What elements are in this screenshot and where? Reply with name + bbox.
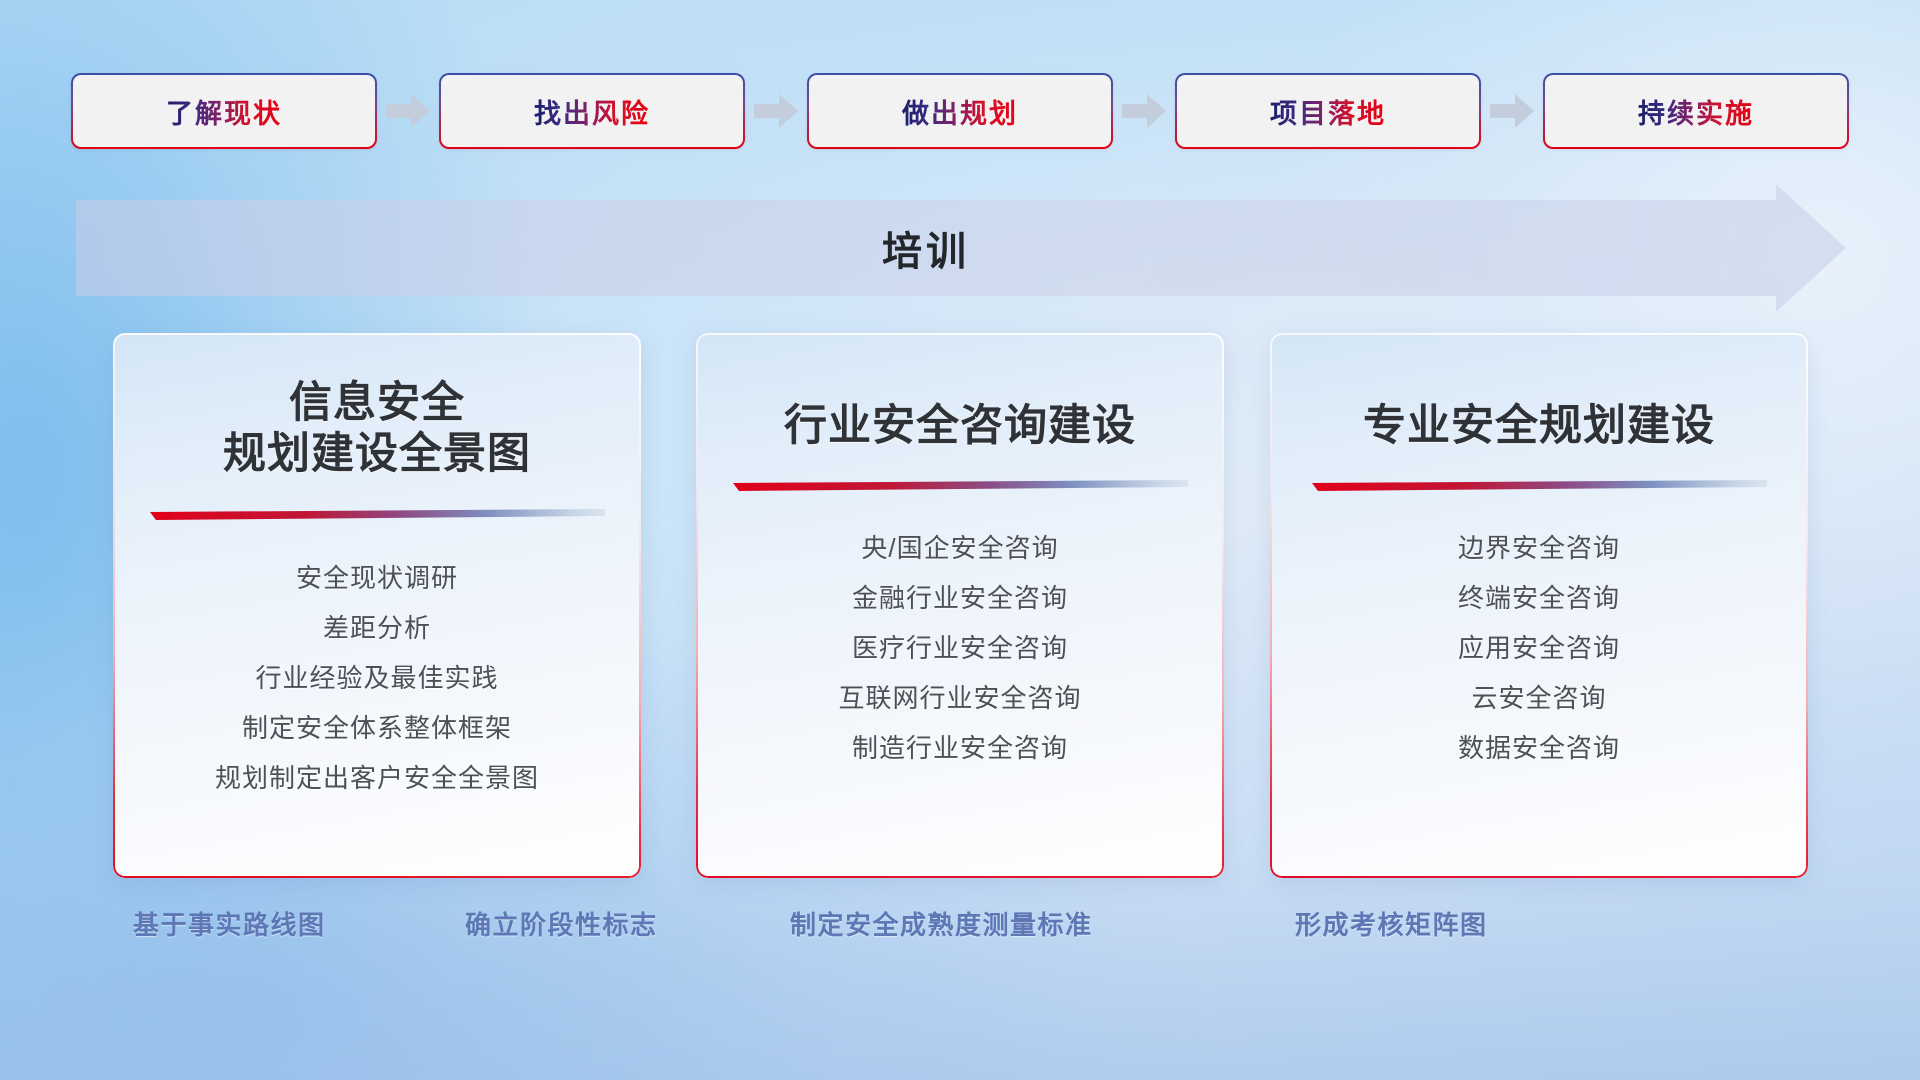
process-step-label-1: 了解现状 xyxy=(166,92,282,131)
footer-label-2: 确立阶段性标志 xyxy=(465,905,658,942)
arrow-right-icon xyxy=(1481,72,1543,150)
capability-card-1-item-list: 安全现状调研 差距分析 行业经验及最佳实践 制定安全体系整体框架 规划制定出客户… xyxy=(215,553,539,803)
process-step-2-wrap: 找出风险 xyxy=(439,72,807,150)
process-step-3-wrap: 做出规划 xyxy=(807,72,1175,150)
process-step-box-3[interactable]: 做出规划 xyxy=(807,73,1113,149)
list-item: 规划制定出客户安全全景图 xyxy=(215,753,539,803)
process-step-box-4[interactable]: 项目落地 xyxy=(1175,73,1481,149)
list-item: 互联网行业安全咨询 xyxy=(838,673,1081,723)
capability-card-1-title-line-1: 信息安全 xyxy=(223,378,531,429)
process-step-box-1[interactable]: 了解现状 xyxy=(71,73,377,149)
footer-label-4: 形成考核矩阵图 xyxy=(1295,905,1488,942)
arrow-right-icon xyxy=(377,72,439,150)
list-item: 数据安全咨询 xyxy=(1458,723,1620,773)
process-step-label-2: 找出风险 xyxy=(534,92,650,131)
footer-label-3: 制定安全成熟度测量标准 xyxy=(790,905,1093,942)
list-item: 差距分析 xyxy=(323,603,431,653)
capability-card-1[interactable]: 信息安全 规划建设全景图 xyxy=(113,333,641,878)
capability-card-2-title-line-1: 行业安全咨询建设 xyxy=(784,401,1136,452)
list-item: 制造行业安全咨询 xyxy=(852,723,1068,773)
list-item: 医疗行业安全咨询 xyxy=(852,623,1068,673)
capability-card-2[interactable]: 行业安全咨询建设 xyxy=(696,333,1224,878)
capability-card-3-title-line-1: 专业安全规划建设 xyxy=(1363,401,1715,452)
list-item: 制定安全体系整体框架 xyxy=(242,703,512,753)
arrow-right-icon xyxy=(745,72,807,150)
capability-card-1-inner: 信息安全 规划建设全景图 xyxy=(113,333,641,878)
process-step-box-2[interactable]: 找出风险 xyxy=(439,73,745,149)
footer-label-row: 基于事实路线图 确立阶段性标志 制定安全成熟度测量标准 形成考核矩阵图 xyxy=(0,905,1920,965)
capability-card-3-title: 专业安全规划建设 xyxy=(1363,333,1715,452)
process-step-box-5[interactable]: 持续实施 xyxy=(1543,73,1849,149)
capability-card-2-inner: 行业安全咨询建设 xyxy=(696,333,1224,878)
capability-card-1-title: 信息安全 规划建设全景图 xyxy=(223,333,531,479)
list-item: 终端安全咨询 xyxy=(1458,573,1620,623)
list-item: 应用安全咨询 xyxy=(1458,623,1620,673)
process-step-label-5: 持续实施 xyxy=(1638,92,1754,131)
list-item: 央/国企安全咨询 xyxy=(861,523,1058,573)
process-step-label-4: 项目落地 xyxy=(1270,92,1386,131)
capability-card-3-divider xyxy=(1312,480,1767,491)
capability-card-row: 信息安全 规划建设全景图 xyxy=(0,333,1920,878)
capability-card-2-title: 行业安全咨询建设 xyxy=(784,333,1136,452)
capability-card-3-item-list: 边界安全咨询 终端安全咨询 应用安全咨询 云安全咨询 数据安全咨询 xyxy=(1458,523,1620,773)
list-item: 边界安全咨询 xyxy=(1458,523,1620,573)
list-item: 安全现状调研 xyxy=(296,553,458,603)
process-step-row: 了解现状 找出风险 做出规划 项目落地 xyxy=(0,72,1920,150)
capability-card-1-title-line-2: 规划建设全景图 xyxy=(223,429,531,480)
capability-card-3-inner: 专业安全规划建设 xyxy=(1270,333,1808,878)
capability-card-2-divider xyxy=(733,480,1188,491)
list-item: 行业经验及最佳实践 xyxy=(255,653,498,703)
training-banner: 培训 xyxy=(76,200,1846,296)
capability-card-1-divider xyxy=(150,509,605,520)
process-step-4-wrap: 项目落地 xyxy=(1175,72,1543,150)
footer-label-1: 基于事实路线图 xyxy=(133,905,326,942)
list-item: 金融行业安全咨询 xyxy=(852,573,1068,623)
process-step-1-wrap: 了解现状 xyxy=(71,72,439,150)
process-step-5-wrap: 持续实施 xyxy=(1543,73,1849,149)
process-step-label-3: 做出规划 xyxy=(902,92,1018,131)
training-banner-arrowhead xyxy=(1776,184,1846,312)
list-item: 云安全咨询 xyxy=(1471,673,1606,723)
training-banner-title: 培训 xyxy=(76,200,1776,296)
capability-card-3[interactable]: 专业安全规划建设 xyxy=(1270,333,1808,878)
arrow-right-icon xyxy=(1113,72,1175,150)
capability-card-2-item-list: 央/国企安全咨询 金融行业安全咨询 医疗行业安全咨询 互联网行业安全咨询 制造行… xyxy=(838,523,1081,773)
